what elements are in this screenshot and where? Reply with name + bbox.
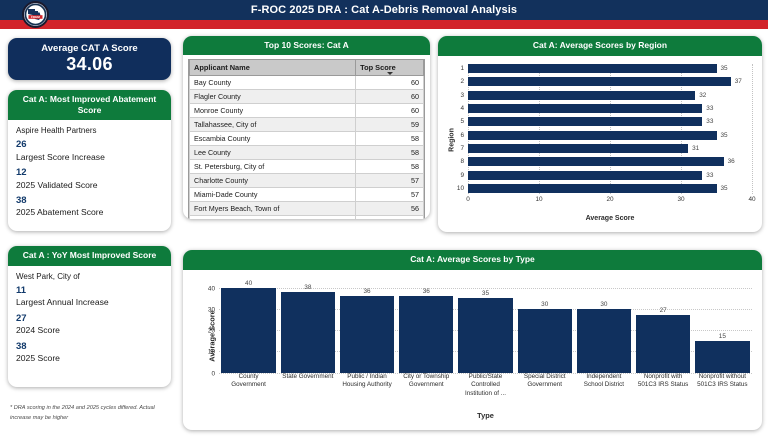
type-bar[interactable] <box>695 341 749 373</box>
y-tick-label: 10 <box>203 349 215 356</box>
table-row[interactable]: Tallahassee, City of59 <box>190 117 424 131</box>
type-bar-column[interactable]: 36 <box>399 288 453 373</box>
cell-top-score: 59 <box>356 117 424 131</box>
region-bar-value: 37 <box>735 78 742 85</box>
card-title: Cat A: Most Improved Abatement Score <box>8 90 171 120</box>
region-bar[interactable] <box>468 131 717 140</box>
cell-applicant-name: Port St. Lucie, City of <box>190 215 356 219</box>
stat-value: 26 <box>16 139 163 151</box>
type-bar-column[interactable]: 40 <box>221 288 275 373</box>
region-bar-row[interactable]: 635 <box>468 130 752 140</box>
table-row[interactable]: St. Petersburg, City of58 <box>190 159 424 173</box>
region-bar[interactable] <box>468 184 717 193</box>
y-tick-label: 40 <box>203 285 215 292</box>
region-bar-value: 33 <box>706 172 713 179</box>
region-bar-row[interactable]: 1035 <box>468 184 752 194</box>
region-bar-row[interactable]: 332 <box>468 90 752 100</box>
type-category-label: Special District Government <box>518 373 572 407</box>
column-header-label: Top Score <box>360 63 396 72</box>
card-yoy-most-improved: Cat A : YoY Most Improved Score West Par… <box>8 246 171 387</box>
type-category-label: Independent School District <box>577 373 631 407</box>
cell-top-score: 56 <box>356 215 424 219</box>
card-title: Top 10 Scores: Cat A <box>183 36 430 55</box>
accent-bar <box>0 20 768 29</box>
table-row[interactable]: Charlotte County57 <box>190 173 424 187</box>
x-tick-label: 0 <box>466 196 470 203</box>
region-bar-value: 36 <box>728 158 735 165</box>
footnote: * DRA scoring in the 2024 and 2025 cycle… <box>10 404 170 423</box>
stat-caption: 2025 Validated Score <box>16 180 163 192</box>
type-bar-value: 36 <box>340 288 394 295</box>
type-bar-column[interactable]: 36 <box>340 288 394 373</box>
region-bar-row[interactable]: 731 <box>468 144 752 154</box>
table-row[interactable]: Escambia County58 <box>190 131 424 145</box>
card-scores-by-type: Cat A: Average Scores by Type Average Sc… <box>183 250 762 430</box>
table-row[interactable]: Bay County60 <box>190 75 424 89</box>
table-row[interactable]: Monroe County60 <box>190 103 424 117</box>
cell-top-score: 58 <box>356 131 424 145</box>
gridline <box>752 64 753 194</box>
type-category-label: Nonprofit without 501C3 IRS Status <box>695 373 749 407</box>
type-bar[interactable] <box>281 292 335 373</box>
column-header-top-score[interactable]: Top Score <box>356 60 424 76</box>
cell-applicant-name: Tallahassee, City of <box>190 117 356 131</box>
type-bar-column[interactable]: 15 <box>695 288 749 373</box>
type-bar-value: 30 <box>518 301 572 308</box>
region-bar-value: 35 <box>721 65 728 72</box>
stat-value: 11 <box>16 285 163 297</box>
type-bar[interactable] <box>221 288 275 373</box>
applicant-name: West Park, City of <box>16 272 163 281</box>
y-tick-label: 0 <box>203 370 215 377</box>
type-bar-column[interactable]: 35 <box>458 288 512 373</box>
cell-applicant-name: Monroe County <box>190 103 356 117</box>
page-title: F-ROC 2025 DRA : Cat A-Debris Removal An… <box>251 4 517 16</box>
region-bar-row[interactable]: 237 <box>468 77 752 87</box>
cell-applicant-name: Miami-Dade County <box>190 187 356 201</box>
stat-caption: 2025 Score <box>16 353 163 365</box>
kpi-average-score: Average CAT A Score 34.06 <box>8 38 171 80</box>
region-category-label: 3 <box>442 92 464 99</box>
type-bar[interactable] <box>577 309 631 373</box>
title-bar: F-ROC 2025 DRA : Cat A-Debris Removal An… <box>0 0 768 20</box>
region-category-label: 8 <box>442 158 464 165</box>
cell-applicant-name: Fort Myers Beach, Town of <box>190 201 356 215</box>
x-tick-label: 40 <box>748 196 755 203</box>
x-tick-label: 20 <box>606 196 613 203</box>
type-category-label: State Government <box>281 373 335 407</box>
table-row[interactable]: Miami-Dade County57 <box>190 187 424 201</box>
y-tick-label: 30 <box>203 306 215 313</box>
stat-caption: Largest Annual Increase <box>16 297 163 309</box>
region-category-label: 9 <box>442 172 464 179</box>
x-tick-label: 30 <box>677 196 684 203</box>
cell-top-score: 57 <box>356 173 424 187</box>
cell-top-score: 58 <box>356 145 424 159</box>
type-bar-chart: Average Score 010203040 4038363635303027… <box>183 270 762 421</box>
region-category-label: 7 <box>442 145 464 152</box>
region-bar-chart: Region 1352373324335336357318369331035 0… <box>438 56 762 224</box>
region-bar[interactable] <box>468 117 702 126</box>
type-bar-column[interactable]: 27 <box>636 288 690 373</box>
kpi-label: Average CAT A Score <box>41 43 137 54</box>
region-category-label: 1 <box>442 65 464 72</box>
type-category-label: Nonprofit with 501C3 IRS Status <box>636 373 690 407</box>
type-bar-column[interactable]: 30 <box>577 288 631 373</box>
region-bar[interactable] <box>468 171 702 180</box>
region-bar-row[interactable]: 933 <box>468 170 752 180</box>
fdem-seal-icon: FDEM <box>22 1 49 28</box>
kpi-value: 34.06 <box>66 54 113 75</box>
card-title: Cat A: Average Scores by Type <box>183 250 762 270</box>
region-bar[interactable] <box>468 77 731 86</box>
region-bar-value: 32 <box>699 92 706 99</box>
x-axis-label: Type <box>219 411 752 420</box>
table-row[interactable]: Fort Myers Beach, Town of56 <box>190 201 424 215</box>
svg-text:FDEM: FDEM <box>31 15 40 19</box>
x-axis-categories: County GovernmentState GovernmentPublic … <box>219 373 752 407</box>
x-axis-label: Average Score <box>468 215 752 222</box>
cell-top-score: 60 <box>356 75 424 89</box>
type-bar-value: 38 <box>281 284 335 291</box>
y-tick-label: 20 <box>203 328 215 335</box>
cell-applicant-name: Escambia County <box>190 131 356 145</box>
type-bar-value: 35 <box>458 290 512 297</box>
cell-applicant-name: Lee County <box>190 145 356 159</box>
x-tick-label: 10 <box>535 196 542 203</box>
type-category-label: County Government <box>221 373 275 407</box>
type-bar-value: 15 <box>695 333 749 340</box>
region-bar[interactable] <box>468 91 695 100</box>
type-bar[interactable] <box>518 309 572 373</box>
region-bar-row[interactable]: 533 <box>468 117 752 127</box>
region-bar[interactable] <box>468 104 702 113</box>
column-header-applicant[interactable]: Applicant Name <box>190 60 356 76</box>
region-bar[interactable] <box>468 144 688 153</box>
region-bar-row[interactable]: 433 <box>468 104 752 114</box>
region-bar-row[interactable]: 135 <box>468 64 752 74</box>
region-category-label: 2 <box>442 78 464 85</box>
type-bar-value: 30 <box>577 301 631 308</box>
region-category-label: 6 <box>442 132 464 139</box>
stat-caption: Largest Score Increase <box>16 152 163 164</box>
region-bar-value: 33 <box>706 118 713 125</box>
type-category-label: Public/State Controlled Institution of .… <box>458 373 512 407</box>
card-scores-by-region: Cat A: Average Scores by Region Region 1… <box>438 36 762 232</box>
cell-applicant-name: Bay County <box>190 75 356 89</box>
type-bar[interactable] <box>340 296 394 373</box>
type-category-label: Public / Indian Housing Authority <box>340 373 394 407</box>
applicant-name: Aspire Health Partners <box>16 126 163 135</box>
cell-applicant-name: St. Petersburg, City of <box>190 159 356 173</box>
region-category-label: 4 <box>442 105 464 112</box>
table-row[interactable]: Flagler County60 <box>190 89 424 103</box>
type-bar-value: 27 <box>636 307 690 314</box>
region-category-label: 10 <box>442 185 464 192</box>
stat-caption: 2025 Abatement Score <box>16 207 163 219</box>
table-header-row: Applicant Name Top Score <box>190 60 424 76</box>
region-bar-value: 35 <box>721 132 728 139</box>
card-most-improved-abatement: Cat A: Most Improved Abatement Score Asp… <box>8 90 171 231</box>
type-bar[interactable] <box>458 298 512 372</box>
top-scores-table: Applicant Name Top Score Bay County60Fla… <box>189 60 424 219</box>
type-bar-column[interactable]: 30 <box>518 288 572 373</box>
type-category-label: City or Township Government <box>399 373 453 407</box>
stat-value: 27 <box>16 313 163 325</box>
cell-applicant-name: Charlotte County <box>190 173 356 187</box>
cell-top-score: 57 <box>356 187 424 201</box>
stat-value: 38 <box>16 341 163 353</box>
region-bar[interactable] <box>468 157 724 166</box>
cell-top-score: 58 <box>356 159 424 173</box>
cell-applicant-name: Flagler County <box>190 89 356 103</box>
region-bar-value: 33 <box>706 105 713 112</box>
region-bar[interactable] <box>468 64 717 73</box>
type-bar-value: 40 <box>221 280 275 287</box>
card-title: Cat A : YoY Most Improved Score <box>8 246 171 266</box>
cell-top-score: 60 <box>356 103 424 117</box>
table-row[interactable]: Port St. Lucie, City of56 <box>190 215 424 219</box>
sort-descending-icon <box>387 72 393 75</box>
type-bar[interactable] <box>636 315 690 372</box>
type-bar[interactable] <box>399 296 453 373</box>
type-bar-value: 36 <box>399 288 453 295</box>
cell-top-score: 56 <box>356 201 424 215</box>
dashboard-page: F-ROC 2025 DRA : Cat A-Debris Removal An… <box>0 0 768 439</box>
region-category-label: 5 <box>442 118 464 125</box>
type-bar-column[interactable]: 38 <box>281 288 335 373</box>
stat-caption: 2024 Score <box>16 325 163 337</box>
region-bar-value: 31 <box>692 145 699 152</box>
x-axis-ticks: 010203040 <box>468 196 752 208</box>
region-bar-value: 35 <box>721 185 728 192</box>
card-top-10-scores: Top 10 Scores: Cat A Applicant Name Top … <box>183 36 430 219</box>
stat-value: 12 <box>16 167 163 179</box>
stat-value: 38 <box>16 195 163 207</box>
card-title: Cat A: Average Scores by Region <box>438 36 762 56</box>
region-bar-row[interactable]: 836 <box>468 157 752 167</box>
table-row[interactable]: Lee County58 <box>190 145 424 159</box>
cell-top-score: 60 <box>356 89 424 103</box>
